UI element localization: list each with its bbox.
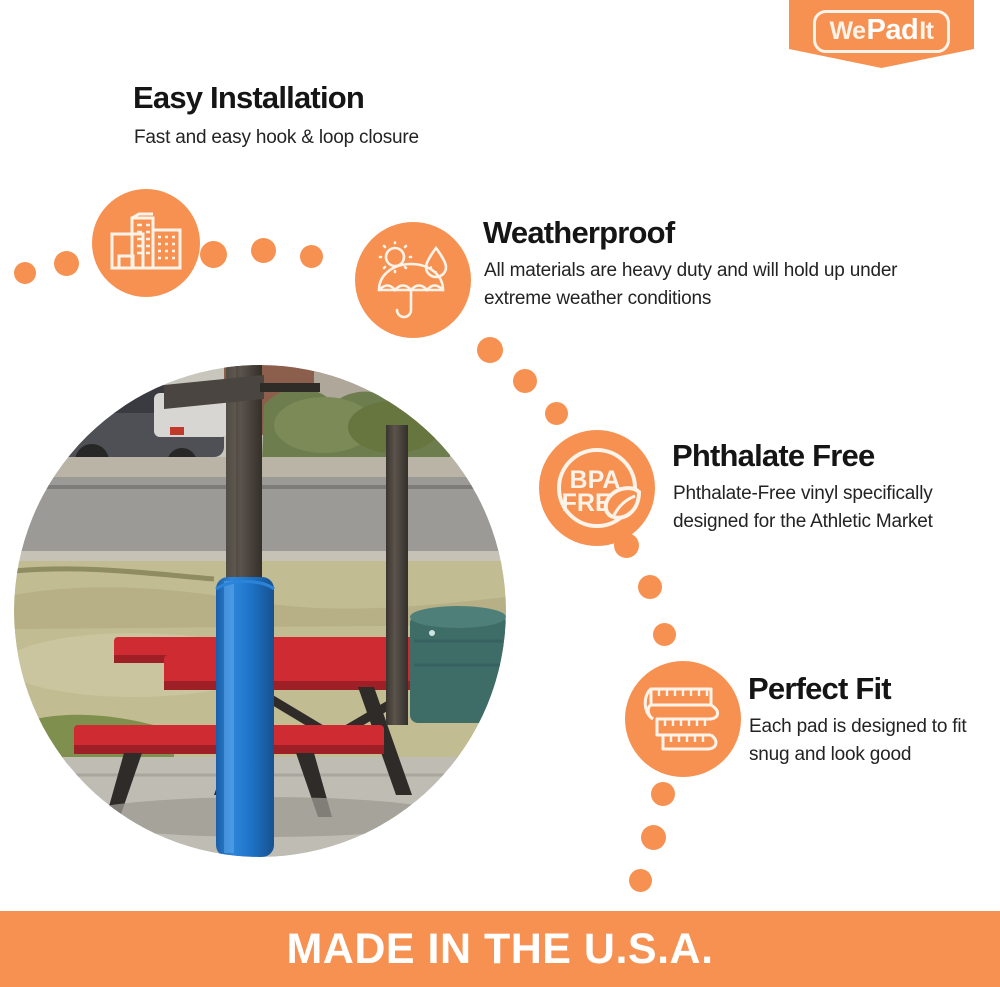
feature-subtitle-easy-installation: Fast and easy hook & loop closure — [134, 124, 554, 152]
feature-title-weatherproof: Weatherproof — [483, 215, 674, 251]
trail-dot — [477, 337, 503, 363]
trail-dot — [629, 869, 652, 892]
trail-dot — [251, 238, 276, 263]
feature-subtitle-perfect-fit: Each pad is designed to fit snug and loo… — [749, 713, 979, 768]
trail-dot — [638, 575, 662, 599]
trail-dot — [651, 782, 675, 806]
feature-subtitle-phthalate-free: Phthalate-Free vinyl specifically design… — [673, 480, 943, 535]
trail-dot — [200, 241, 227, 268]
bpa-free-leaf-icon: BPA FREE — [539, 430, 655, 546]
feature-title-perfect-fit: Perfect Fit — [748, 671, 891, 707]
made-in-usa-banner: MADE IN THE U.S.A. — [0, 911, 1000, 987]
trail-dot — [54, 251, 79, 276]
brand-logo-it: It — [919, 19, 933, 44]
trail-dot — [513, 369, 537, 393]
made-in-usa-text: MADE IN THE U.S.A. — [286, 925, 713, 974]
trail-dot — [300, 245, 323, 268]
feature-subtitle-weatherproof: All materials are heavy duty and will ho… — [484, 257, 914, 312]
brand-logo-badge: We Pad It — [789, 0, 974, 68]
feature-title-easy-installation: Easy Installation — [133, 80, 364, 116]
infographic-canvas: We Pad It Easy Installation Fast and eas… — [0, 0, 1000, 987]
trail-dot — [641, 825, 666, 850]
umbrella-sun-rain-icon — [355, 222, 471, 338]
trail-dot — [545, 402, 568, 425]
feature-title-phthalate-free: Phthalate Free — [672, 438, 874, 474]
trail-dot — [653, 623, 676, 646]
measuring-tape-icon — [625, 661, 741, 777]
product-photo — [14, 365, 506, 857]
brand-logo-pad: Pad — [867, 16, 919, 45]
trail-dot — [14, 262, 36, 284]
brand-logo-we: We — [829, 19, 865, 44]
building-icon — [92, 189, 200, 297]
brand-logo-frame: We Pad It — [813, 10, 949, 53]
